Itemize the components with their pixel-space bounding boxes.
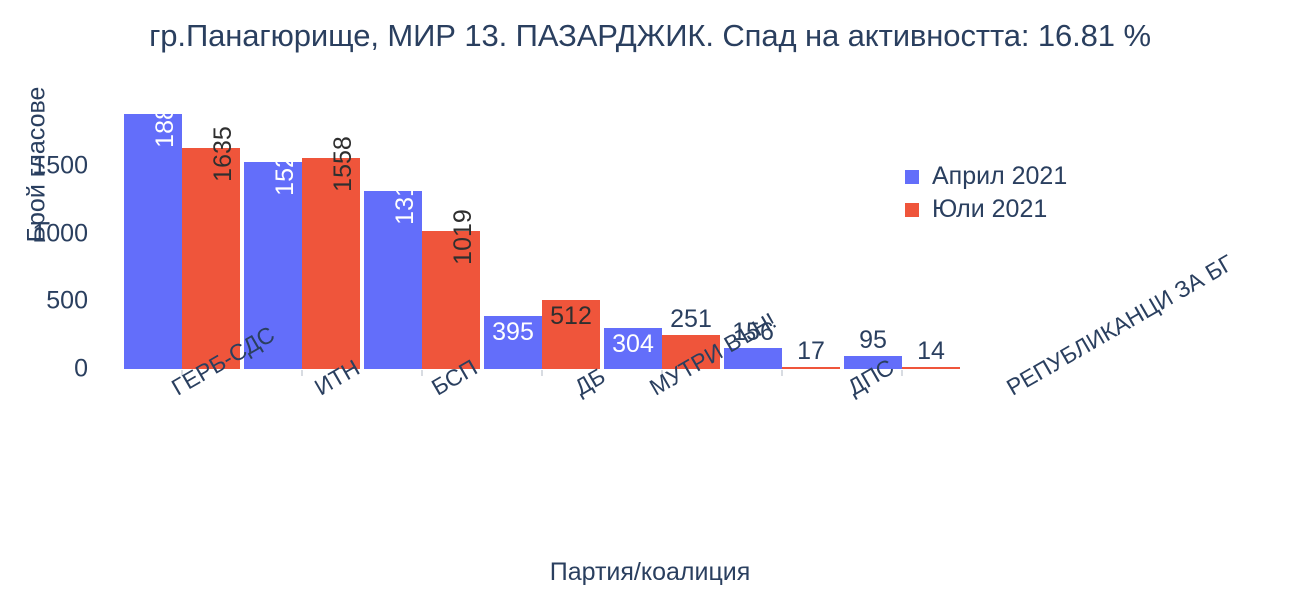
bar-july-bsp[interactable]: 1019 xyxy=(422,231,480,369)
bar-july-dps[interactable]: 17 xyxy=(782,367,840,369)
bar-group-bsp: 1317 1019 xyxy=(364,92,480,369)
bar-july-db[interactable]: 512 xyxy=(542,300,600,369)
bar-group-republikanci-za-bg: 95 14 xyxy=(844,92,960,369)
y-tick-label-1500: 1500 xyxy=(0,153,88,178)
bar-value-label: 1635 xyxy=(211,126,236,182)
legend-item-july[interactable]: Юли 2021 xyxy=(905,193,1067,226)
y-tick-label-1000: 1000 xyxy=(0,221,88,246)
bar-value-label: 95 xyxy=(859,328,887,353)
y-tick-label-0: 0 xyxy=(0,357,88,382)
chart-figure: гр.Панагюрище, МИР 13. ПАЗАРДЖИК. Спад н… xyxy=(0,0,1300,600)
bar-value-label: 1317 xyxy=(393,169,418,225)
x-tick-mark xyxy=(302,370,303,376)
legend-swatch-icon xyxy=(905,170,919,184)
bar-july-gerb-sds[interactable]: 1635 xyxy=(182,148,240,369)
x-tick-mark xyxy=(422,370,423,376)
bar-april-mutri-van[interactable]: 304 xyxy=(604,328,662,369)
legend-item-april[interactable]: Април 2021 xyxy=(905,160,1067,193)
bar-value-label: 17 xyxy=(797,339,825,364)
legend-swatch-icon xyxy=(905,203,919,217)
x-axis-title: Партия/коалиция xyxy=(0,558,1300,587)
chart-title: гр.Панагюрище, МИР 13. ПАЗАРДЖИК. Спад н… xyxy=(0,18,1300,54)
bar-april-db[interactable]: 395 xyxy=(484,316,542,370)
bar-value-label: 1558 xyxy=(331,136,356,192)
legend-label: Юли 2021 xyxy=(932,195,1047,224)
bar-value-label: 304 xyxy=(612,332,654,357)
bar-value-label: 1529 xyxy=(273,140,298,196)
y-tick-label-500: 500 xyxy=(0,289,88,314)
x-tick-mark xyxy=(542,370,543,376)
x-tick-mark xyxy=(902,370,903,376)
legend-label: Април 2021 xyxy=(932,162,1067,191)
bar-value-label: 395 xyxy=(492,320,534,345)
bar-value-label: 251 xyxy=(670,307,712,332)
bar-april-gerb-sds[interactable]: 1883 xyxy=(124,114,182,369)
bar-april-bsp[interactable]: 1317 xyxy=(364,191,422,369)
bar-july-itn[interactable]: 1558 xyxy=(302,158,360,369)
bar-group-db: 395 512 xyxy=(484,92,600,369)
bar-july-republikanci-za-bg[interactable]: 14 xyxy=(902,367,960,369)
bar-value-label: 1019 xyxy=(451,209,476,265)
bar-value-label: 1883 xyxy=(153,92,178,148)
bar-value-label: 14 xyxy=(917,339,945,364)
x-tick-mark xyxy=(782,370,783,376)
bar-group-gerb-sds: 1883 1635 xyxy=(124,92,240,369)
bar-group-mutri-van: 304 251 xyxy=(604,92,720,369)
chart-legend: Април 2021 Юли 2021 xyxy=(905,160,1067,226)
bar-value-label: 512 xyxy=(550,304,592,329)
